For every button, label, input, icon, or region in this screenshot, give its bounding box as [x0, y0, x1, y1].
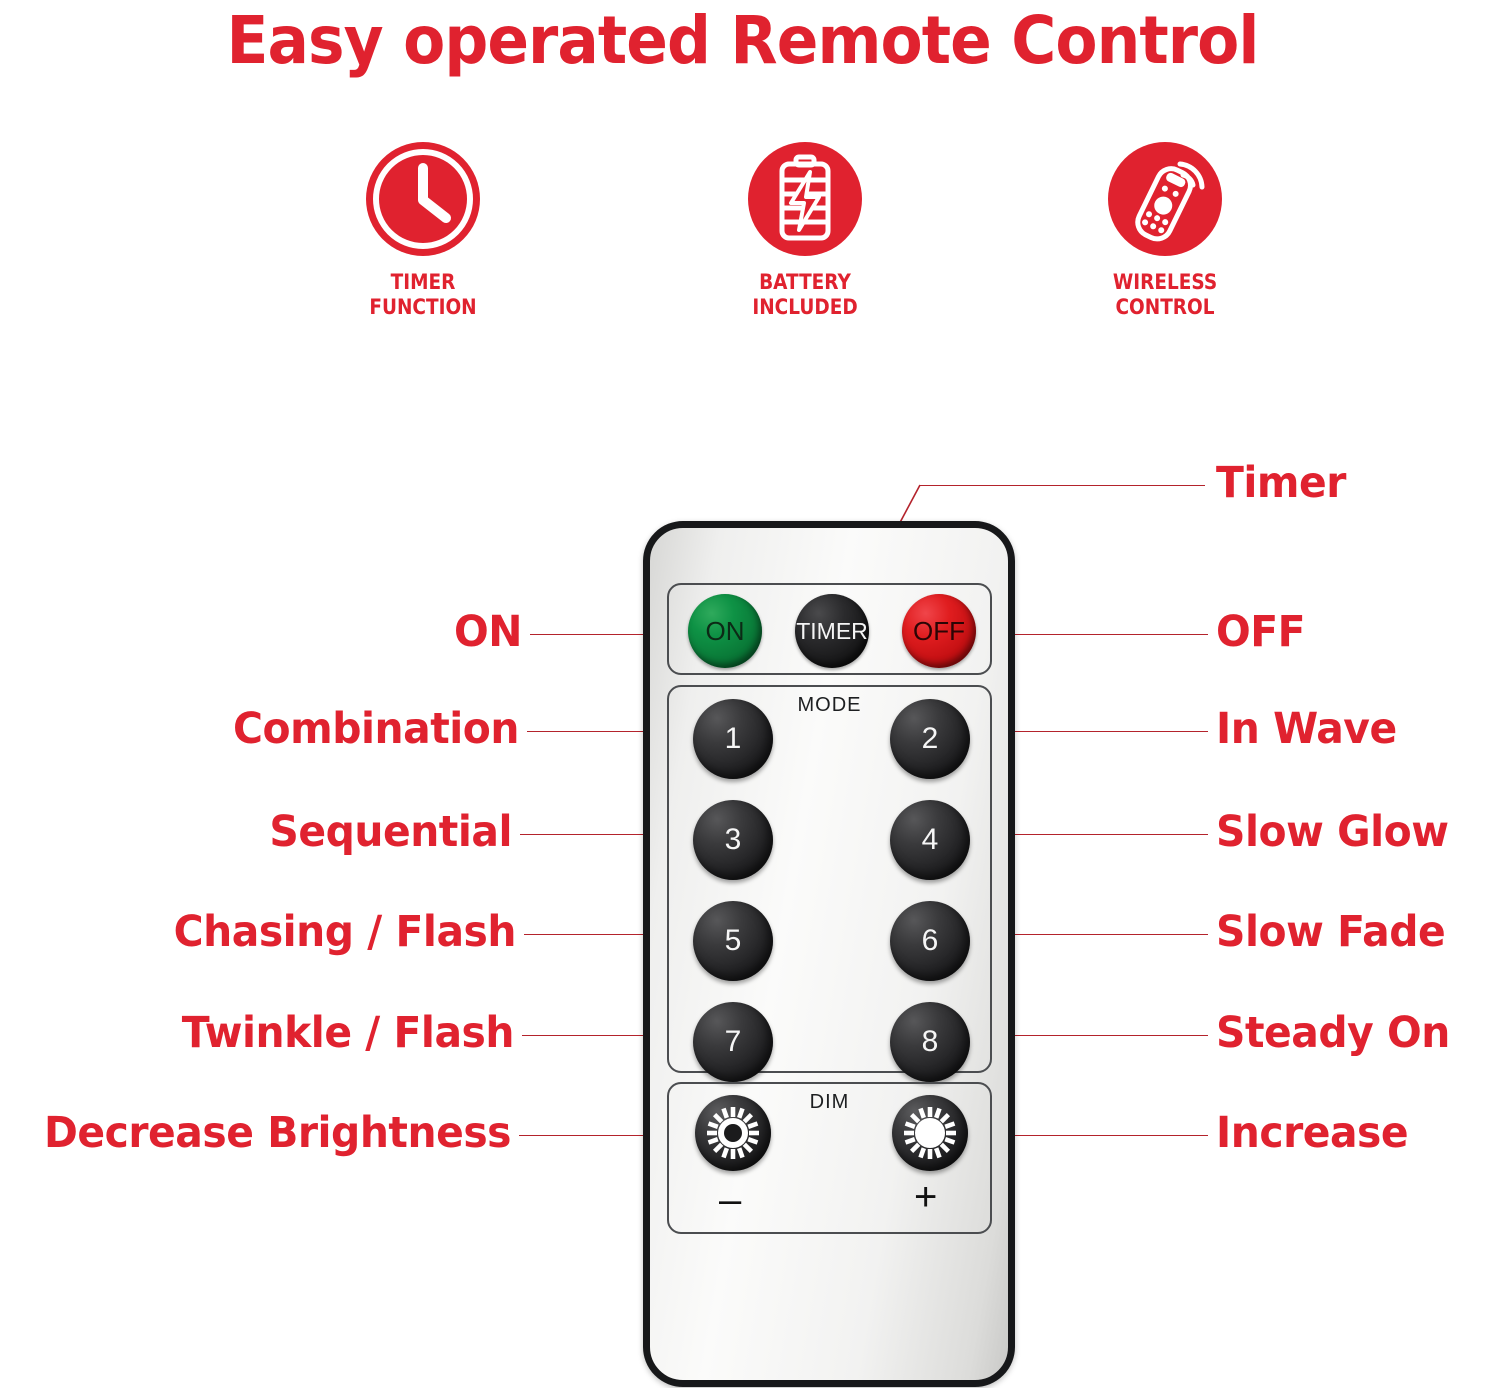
- mode-button-4-label: 4: [922, 823, 939, 857]
- mode-button-1[interactable]: 1: [693, 699, 773, 779]
- mode-button-1-label: 1: [725, 722, 742, 756]
- battery-icon: [746, 140, 864, 258]
- power-button-timer-label: TIMER: [796, 618, 868, 645]
- feature-caption-line1: BATTERY: [759, 270, 851, 294]
- mode-button-4[interactable]: 4: [890, 800, 970, 880]
- feature-caption-line2: INCLUDED: [752, 295, 857, 319]
- mode-button-6-label: 6: [922, 924, 939, 958]
- product-infographic: Easy operated Remote Control TIMER FUNCT…: [0, 0, 1485, 1388]
- callout-steady-on: Steady On: [1216, 1012, 1450, 1055]
- remote-signal-icon: [1106, 140, 1224, 258]
- callout-on: ON: [245, 611, 522, 654]
- mode-button-3[interactable]: 3: [693, 800, 773, 880]
- clock-icon: [364, 140, 482, 258]
- mode-button-7[interactable]: 7: [693, 1002, 773, 1082]
- callout-slow-fade: Slow Fade: [1216, 911, 1445, 954]
- callout-increase: Increase: [1216, 1112, 1408, 1155]
- feature-caption-line2: FUNCTION: [369, 295, 476, 319]
- power-button-off-label: OFF: [913, 616, 965, 647]
- dim-increase-button[interactable]: [892, 1095, 968, 1171]
- page-title: Easy operated Remote Control: [52, 2, 1433, 79]
- callout-decrease-brightness: Decrease Brightness: [33, 1112, 511, 1155]
- feature-caption: TIMER FUNCTION: [309, 270, 538, 320]
- callout-twinkle-flash: Twinkle / Flash: [121, 1012, 514, 1055]
- mode-button-5[interactable]: 5: [693, 901, 773, 981]
- callout-sequential: Sequential: [149, 811, 512, 854]
- mode-button-8[interactable]: 8: [890, 1002, 970, 1082]
- callout-chasing-flash: Chasing / Flash: [121, 911, 516, 954]
- callout-combination: Combination: [149, 708, 519, 751]
- mode-button-7-label: 7: [725, 1025, 742, 1059]
- callout-slow-glow: Slow Glow: [1216, 811, 1449, 854]
- mode-button-6[interactable]: 6: [890, 901, 970, 981]
- power-button-on[interactable]: ON: [688, 594, 762, 668]
- sun-hollow-icon: [704, 1104, 762, 1162]
- feature-battery-included: BATTERY INCLUDED: [675, 140, 935, 320]
- sun-filled-icon: [901, 1104, 959, 1162]
- power-button-off[interactable]: OFF: [902, 594, 976, 668]
- mode-button-5-label: 5: [725, 924, 742, 958]
- dim-panel: DIM: [667, 1082, 992, 1234]
- feature-timer-function: TIMER FUNCTION: [293, 140, 553, 320]
- dim-plus-symbol: +: [914, 1177, 937, 1217]
- feature-caption: BATTERY INCLUDED: [691, 270, 920, 320]
- power-button-timer[interactable]: TIMER: [795, 594, 869, 668]
- dim-decrease-button[interactable]: [695, 1095, 771, 1171]
- callout-in-wave: In Wave: [1216, 708, 1397, 751]
- callout-off: OFF: [1216, 611, 1305, 654]
- feature-caption-line1: TIMER: [391, 270, 456, 294]
- power-button-on-label: ON: [706, 616, 745, 647]
- callout-timer: Timer: [1216, 462, 1346, 505]
- leader-timer-horizontal: [920, 485, 1205, 486]
- feature-caption-line2: CONTROL: [1115, 295, 1214, 319]
- mode-button-3-label: 3: [725, 823, 742, 857]
- remote-control-device: ON TIMER OFF MODE 1 2 3 4 5 6: [643, 521, 1015, 1387]
- dim-minus-symbol: –: [719, 1180, 741, 1220]
- feature-caption-line1: WIRELESS: [1113, 270, 1217, 294]
- mode-button-8-label: 8: [922, 1025, 939, 1059]
- feature-wireless-control: WIRELESS CONTROL: [1035, 140, 1295, 320]
- mode-panel: MODE 1 2 3 4 5 6 7 8: [667, 685, 992, 1073]
- power-panel: ON TIMER OFF: [667, 583, 992, 675]
- feature-caption: WIRELESS CONTROL: [1051, 270, 1280, 320]
- mode-button-2[interactable]: 2: [890, 699, 970, 779]
- mode-button-2-label: 2: [922, 722, 939, 756]
